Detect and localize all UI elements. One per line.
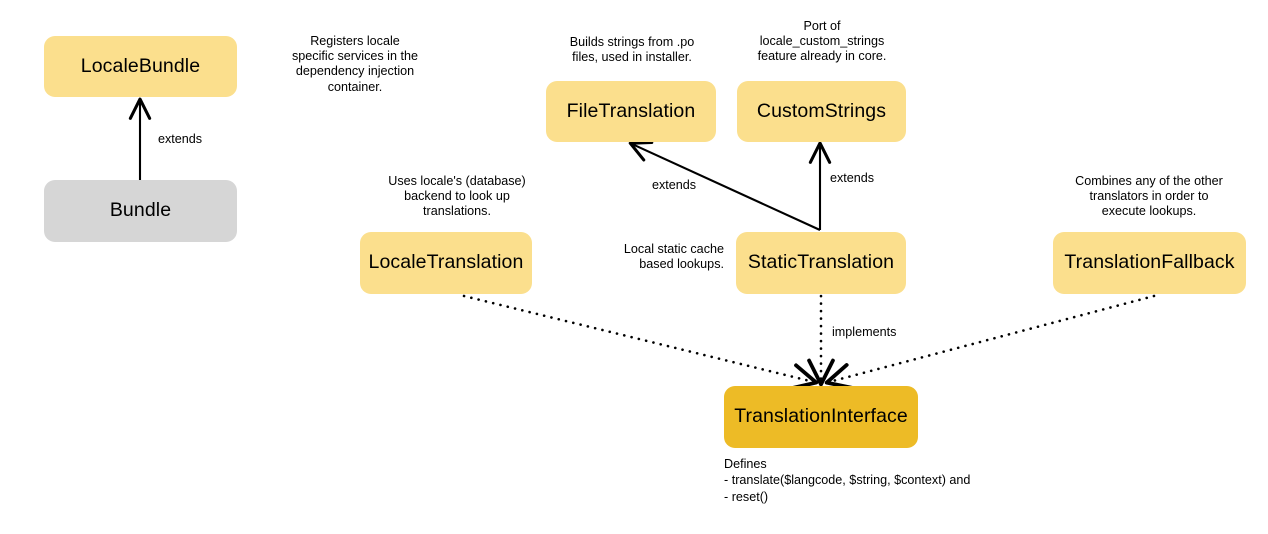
edge-label-static-extends-custom: extends — [830, 171, 874, 186]
class-diagram-canvas: LocaleBundle Bundle FileTranslation Cust… — [0, 0, 1268, 534]
node-label-bundle: Bundle — [110, 199, 171, 222]
edge-label-static-implements: implements — [832, 325, 896, 340]
node-static-translation[interactable]: StaticTranslation — [736, 232, 906, 294]
node-label-locale-translation: LocaleTranslation — [369, 251, 524, 274]
node-label-translation-fallback: TranslationFallback — [1064, 251, 1234, 274]
node-locale-translation[interactable]: LocaleTranslation — [360, 232, 532, 294]
note-custom-strings: Port of locale_custom_strings feature al… — [727, 19, 917, 65]
node-translation-fallback[interactable]: TranslationFallback — [1053, 232, 1246, 294]
node-label-static-translation: StaticTranslation — [748, 251, 894, 274]
node-file-translation[interactable]: FileTranslation — [546, 81, 716, 142]
node-label-custom-strings: CustomStrings — [757, 100, 886, 123]
edge-label-static-extends-file: extends — [652, 178, 696, 193]
note-file-translation: Builds strings from .po files, used in i… — [535, 35, 729, 65]
defines-note: Defines - translate($langcode, $string, … — [724, 456, 1044, 505]
edge-locale-implements-interface — [464, 296, 814, 382]
node-translation-interface[interactable]: TranslationInterface — [724, 386, 918, 448]
node-bundle[interactable]: Bundle — [44, 180, 237, 242]
edge-label-bundle-extends: extends — [158, 132, 202, 147]
note-translation-fallback: Combines any of the other translators in… — [1056, 174, 1242, 220]
note-locale-bundle: Registers locale specific services in th… — [255, 34, 455, 95]
note-static-translation: Local static cache based lookups. — [576, 242, 724, 272]
note-locale-translation: Uses locale's (database) backend to look… — [369, 174, 545, 220]
node-label-translation-interface: TranslationInterface — [734, 405, 908, 428]
node-label-locale-bundle: LocaleBundle — [81, 55, 200, 78]
node-custom-strings[interactable]: CustomStrings — [737, 81, 906, 142]
node-label-file-translation: FileTranslation — [567, 100, 696, 123]
node-locale-bundle[interactable]: LocaleBundle — [44, 36, 237, 97]
